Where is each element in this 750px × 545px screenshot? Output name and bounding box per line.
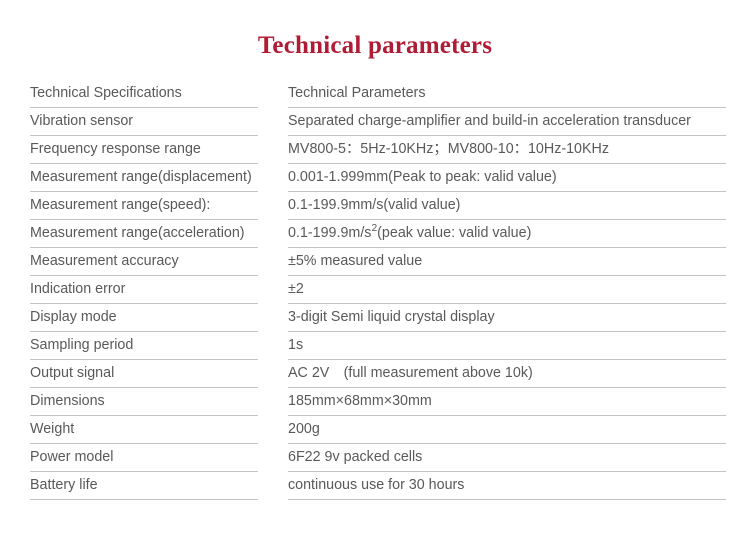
spec-label: Measurement range(speed): <box>30 192 258 220</box>
table-row: Dimensions185mm×68mm×30mm <box>30 388 726 416</box>
spec-label: Power model <box>30 444 258 472</box>
spec-label: Measurement accuracy <box>30 248 258 276</box>
spec-label: Measurement range(acceleration) <box>30 220 258 248</box>
spec-value: MV800-5：5Hz-10KHz；MV800-10：10Hz-10KHz <box>288 136 726 164</box>
table-row: Output signalAC 2V (full measurement abo… <box>30 360 726 388</box>
spec-label: Battery life <box>30 472 258 500</box>
spec-label: Display mode <box>30 304 258 332</box>
technical-parameters-page: Technical parameters Technical Specifica… <box>0 0 750 545</box>
table-row: Measurement range(acceleration)0.1-199.9… <box>30 220 726 248</box>
spec-label: Vibration sensor <box>30 108 258 136</box>
table-row: Battery lifecontinuous use for 30 hours <box>30 472 726 500</box>
spec-value: 6F22 9v packed cells <box>288 444 726 472</box>
spec-label: Frequency response range <box>30 136 258 164</box>
spec-label: Technical Specifications <box>30 80 258 108</box>
superscript-two: 2 <box>371 223 377 234</box>
table-row: Measurement accuracy±5% measured value <box>30 248 726 276</box>
spec-value: continuous use for 30 hours <box>288 472 726 500</box>
spec-label: Sampling period <box>30 332 258 360</box>
table-row: Vibration sensorSeparated charge-amplifi… <box>30 108 726 136</box>
spec-value: 0.001-1.999mm(Peak to peak: valid value) <box>288 164 726 192</box>
spec-value: 0.1-199.9mm/s(valid value) <box>288 192 726 220</box>
table-row: Display mode3-digit Semi liquid crystal … <box>30 304 726 332</box>
table-row: Measurement range(speed):0.1-199.9mm/s(v… <box>30 192 726 220</box>
spec-label: Output signal <box>30 360 258 388</box>
spec-label: Weight <box>30 416 258 444</box>
spec-value: AC 2V (full measurement above 10k) <box>288 360 726 388</box>
spec-value: 185mm×68mm×30mm <box>288 388 726 416</box>
spec-value: ±2 <box>288 276 726 304</box>
spec-value: 0.1-199.9m/s2(peak value: valid value) <box>288 220 726 248</box>
spec-value: Separated charge-amplifier and build-in … <box>288 108 726 136</box>
spec-value: 1s <box>288 332 726 360</box>
spec-value: 3-digit Semi liquid crystal display <box>288 304 726 332</box>
spec-value: Technical Parameters <box>288 80 726 108</box>
table-row: Weight200g <box>30 416 726 444</box>
specifications-table: Technical SpecificationsTechnical Parame… <box>0 80 750 500</box>
table-row: Sampling period1s <box>30 332 726 360</box>
table-row: Measurement range(displacement)0.001-1.9… <box>30 164 726 192</box>
page-title: Technical parameters <box>0 0 750 58</box>
spec-label: Dimensions <box>30 388 258 416</box>
table-row: Frequency response rangeMV800-5：5Hz-10KH… <box>30 136 726 164</box>
table-row: Technical SpecificationsTechnical Parame… <box>30 80 726 108</box>
table-row: Indication error±2 <box>30 276 726 304</box>
spec-value: 200g <box>288 416 726 444</box>
spec-label: Indication error <box>30 276 258 304</box>
spec-label: Measurement range(displacement) <box>30 164 258 192</box>
table-row: Power model6F22 9v packed cells <box>30 444 726 472</box>
spec-value: ±5% measured value <box>288 248 726 276</box>
